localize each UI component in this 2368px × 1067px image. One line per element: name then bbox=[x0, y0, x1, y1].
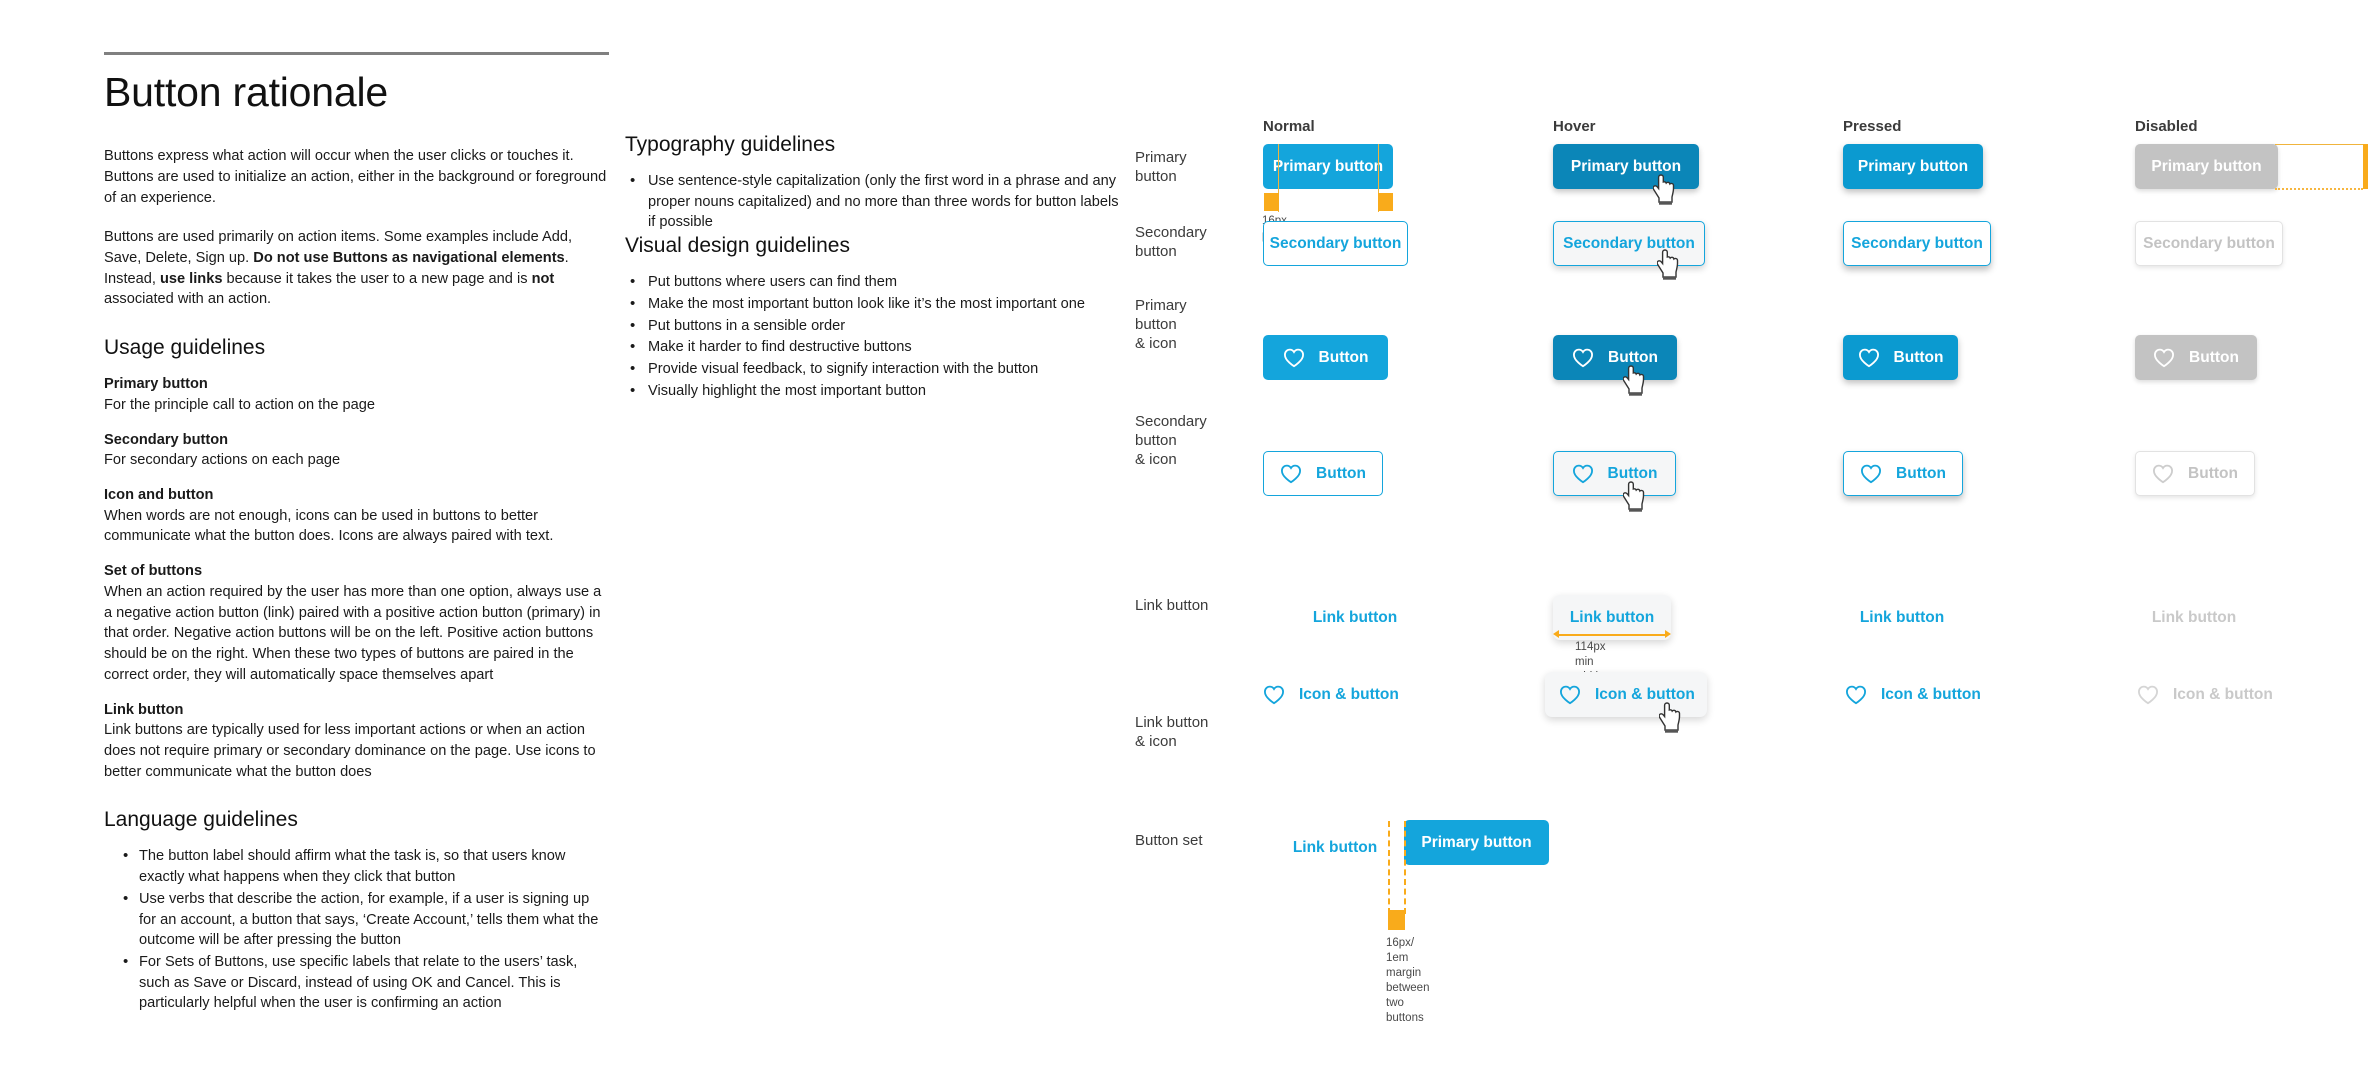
primary-button-pressed[interactable]: Primary button bbox=[1843, 144, 1983, 189]
secondary-icon-button-hover[interactable]: Button bbox=[1553, 451, 1676, 496]
min-width-arrow bbox=[1553, 630, 1671, 639]
link-icon-button-hover[interactable]: Icon & button bbox=[1545, 672, 1707, 717]
column-header-disabled: Disabled bbox=[2135, 118, 2198, 135]
heart-icon bbox=[2137, 685, 2159, 705]
usage-item-link-button: Link button Link buttons are typically u… bbox=[104, 700, 609, 783]
middle-column: Typography guidelines Use sentence-style… bbox=[625, 133, 1125, 402]
intro-paragraph-2: Buttons are used primarily on action ite… bbox=[104, 227, 609, 310]
secondary-icon-button-disabled: Button bbox=[2135, 451, 2255, 496]
row-label-secondary-button: Secondary button bbox=[1135, 223, 1255, 261]
secondary-icon-button-pressed[interactable]: Button bbox=[1843, 451, 1963, 496]
button-label: Link button bbox=[1860, 609, 1944, 627]
button-label: Button bbox=[1608, 349, 1658, 367]
button-label: Icon & button bbox=[2173, 686, 2273, 704]
button-label: Button bbox=[2189, 349, 2239, 367]
link-icon-button-normal[interactable]: Icon & button bbox=[1253, 672, 1405, 717]
button-label: Link button bbox=[1293, 839, 1377, 857]
button-label: Icon & button bbox=[1881, 686, 1981, 704]
padding-swatch-left bbox=[1264, 193, 1279, 211]
list-item: For Sets of Buttons, use specific labels… bbox=[123, 952, 609, 1014]
secondary-button-hover[interactable]: Secondary button bbox=[1553, 221, 1705, 266]
intro-paragraph-1: Buttons express what action will occur w… bbox=[104, 146, 609, 208]
heart-icon bbox=[1572, 464, 1594, 484]
intro2-bold1: Do not use Buttons as navigational eleme… bbox=[253, 250, 564, 266]
button-label: Button bbox=[1319, 349, 1369, 367]
secondary-button-disabled: Secondary button bbox=[2135, 221, 2283, 266]
height-swatch bbox=[2363, 144, 2368, 189]
list-item: The button label should affirm what the … bbox=[123, 846, 609, 887]
button-label: Primary button bbox=[1273, 158, 1383, 176]
button-label: Button bbox=[1894, 349, 1944, 367]
button-label: Link button bbox=[1313, 609, 1397, 627]
heart-icon bbox=[1845, 685, 1867, 705]
heart-icon bbox=[1263, 685, 1285, 705]
button-label: Primary button bbox=[1858, 158, 1968, 176]
row-label-primary-button: Primary button bbox=[1135, 148, 1255, 186]
heart-icon bbox=[2152, 464, 2174, 484]
button-label: Primary button bbox=[1421, 834, 1531, 852]
button-rationale-page: Button rationale Buttons express what ac… bbox=[0, 0, 2368, 1067]
primary-icon-button-hover[interactable]: Button bbox=[1553, 335, 1677, 380]
usage-item-title: Secondary button bbox=[104, 430, 609, 451]
button-label: Link button bbox=[2152, 609, 2236, 627]
padding-swatch-right bbox=[1378, 193, 1393, 211]
list-item: Use sentence-style capitalization (only … bbox=[630, 171, 1125, 233]
visual-design-guidelines-list: Put buttons where users can find them Ma… bbox=[625, 272, 1125, 401]
secondary-button-normal[interactable]: Secondary button bbox=[1263, 221, 1408, 266]
intro2-part3: because it takes the user to a new page … bbox=[222, 271, 531, 287]
heart-icon bbox=[2153, 348, 2175, 368]
primary-button-hover[interactable]: Primary button bbox=[1553, 144, 1699, 189]
intro2-part4: associated with an action. bbox=[104, 291, 271, 307]
row-label-button-set: Button set bbox=[1135, 831, 1255, 850]
usage-guidelines-heading: Usage guidelines bbox=[104, 336, 609, 360]
button-label: Secondary button bbox=[2143, 235, 2275, 253]
typography-guidelines-heading: Typography guidelines bbox=[625, 133, 1125, 157]
usage-item-body: When an action required by the user has … bbox=[104, 582, 609, 686]
intro2-bold2: use links bbox=[160, 271, 222, 287]
secondary-icon-button-normal[interactable]: Button bbox=[1263, 451, 1383, 496]
primary-icon-button-normal[interactable]: Button bbox=[1263, 335, 1388, 380]
button-label: Secondary button bbox=[1851, 235, 1983, 253]
heart-icon bbox=[1559, 685, 1581, 705]
margin-guide-right bbox=[1404, 821, 1406, 914]
intro2-bold3: not bbox=[532, 271, 555, 287]
column-header-normal: Normal bbox=[1263, 118, 1315, 135]
primary-icon-button-pressed[interactable]: Button bbox=[1843, 335, 1958, 380]
button-label: Secondary button bbox=[1563, 235, 1695, 253]
link-button-disabled: Link button bbox=[2135, 595, 2253, 640]
column-header-pressed: Pressed bbox=[1843, 118, 1901, 135]
list-item: Provide visual feedback, to signify inte… bbox=[630, 359, 1125, 380]
list-item: Put buttons in a sensible order bbox=[630, 316, 1125, 337]
usage-item-title: Link button bbox=[104, 700, 609, 721]
typography-guidelines-list: Use sentence-style capitalization (only … bbox=[625, 171, 1125, 233]
usage-item-title: Set of buttons bbox=[104, 561, 609, 582]
height-guide-top bbox=[2275, 144, 2363, 145]
heart-icon bbox=[1572, 348, 1594, 368]
usage-item-body: For the principle call to action on the … bbox=[104, 395, 609, 416]
heart-icon bbox=[1860, 464, 1882, 484]
heart-icon bbox=[1283, 348, 1305, 368]
usage-item-body: For secondary actions on each page bbox=[104, 450, 609, 471]
row-label-secondary-button-icon: Secondary button & icon bbox=[1135, 412, 1255, 470]
heart-icon bbox=[1858, 348, 1880, 368]
list-item: Visually highlight the most important bu… bbox=[630, 381, 1125, 402]
primary-icon-button-disabled: Button bbox=[2135, 335, 2257, 380]
page-title: Button rationale bbox=[104, 69, 609, 116]
usage-item-title: Primary button bbox=[104, 374, 609, 395]
link-button-normal[interactable]: Link button bbox=[1295, 595, 1415, 640]
button-label: Icon & button bbox=[1595, 686, 1695, 704]
list-item: Use verbs that describe the action, for … bbox=[123, 889, 609, 951]
usage-item-secondary: Secondary button For secondary actions o… bbox=[104, 430, 609, 471]
usage-item-body: When words are not enough, icons can be … bbox=[104, 506, 609, 547]
button-label: Button bbox=[1896, 465, 1946, 483]
left-column: Button rationale Buttons express what ac… bbox=[104, 52, 609, 1015]
primary-button-normal[interactable]: Primary button bbox=[1263, 144, 1393, 189]
title-divider bbox=[104, 52, 609, 55]
button-set-link-button[interactable]: Link button bbox=[1280, 825, 1390, 870]
secondary-button-pressed[interactable]: Secondary button bbox=[1843, 221, 1991, 266]
margin-guide-left bbox=[1388, 821, 1390, 914]
link-button-pressed[interactable]: Link button bbox=[1843, 595, 1961, 640]
button-label: Primary button bbox=[2151, 158, 2261, 176]
list-item: Put buttons where users can find them bbox=[630, 272, 1125, 293]
list-item: Make the most important button look like… bbox=[630, 294, 1125, 315]
margin-swatch bbox=[1388, 910, 1405, 930]
height-guide-bottom bbox=[2275, 188, 2363, 190]
usage-item-set-of-buttons: Set of buttons When an action required b… bbox=[104, 561, 609, 685]
row-label-link-button: Link button bbox=[1135, 596, 1255, 615]
button-label: Primary button bbox=[1571, 158, 1681, 176]
heart-icon bbox=[1280, 464, 1302, 484]
margin-annotation: 16px/ 1em margin between two buttons bbox=[1386, 936, 1429, 1026]
link-icon-button-disabled: Icon & button bbox=[2127, 672, 2279, 717]
button-label: Button bbox=[1316, 465, 1366, 483]
button-label: Icon & button bbox=[1299, 686, 1399, 704]
language-guidelines-list: The button label should affirm what the … bbox=[104, 846, 609, 1014]
button-label: Button bbox=[1608, 465, 1658, 483]
button-label: Secondary button bbox=[1270, 235, 1402, 253]
visual-design-guidelines-heading: Visual design guidelines bbox=[625, 234, 1125, 258]
usage-item-title: Icon and button bbox=[104, 485, 609, 506]
language-guidelines-heading: Language guidelines bbox=[104, 808, 609, 832]
usage-item-body: Link buttons are typically used for less… bbox=[104, 720, 609, 782]
row-label-primary-button-icon: Primary button & icon bbox=[1135, 296, 1255, 354]
button-label: Button bbox=[2188, 465, 2238, 483]
usage-item-icon-and-button: Icon and button When words are not enoug… bbox=[104, 485, 609, 547]
list-item: Make it harder to find destructive butto… bbox=[630, 337, 1125, 358]
primary-button-disabled: Primary button bbox=[2135, 144, 2278, 189]
button-label: Link button bbox=[1570, 609, 1654, 627]
usage-item-primary: Primary button For the principle call to… bbox=[104, 374, 609, 415]
button-set-primary-button[interactable]: Primary button bbox=[1404, 820, 1549, 865]
column-header-hover: Hover bbox=[1553, 118, 1596, 135]
link-icon-button-pressed[interactable]: Icon & button bbox=[1835, 672, 1987, 717]
row-label-link-button-icon: Link button & icon bbox=[1135, 713, 1255, 751]
